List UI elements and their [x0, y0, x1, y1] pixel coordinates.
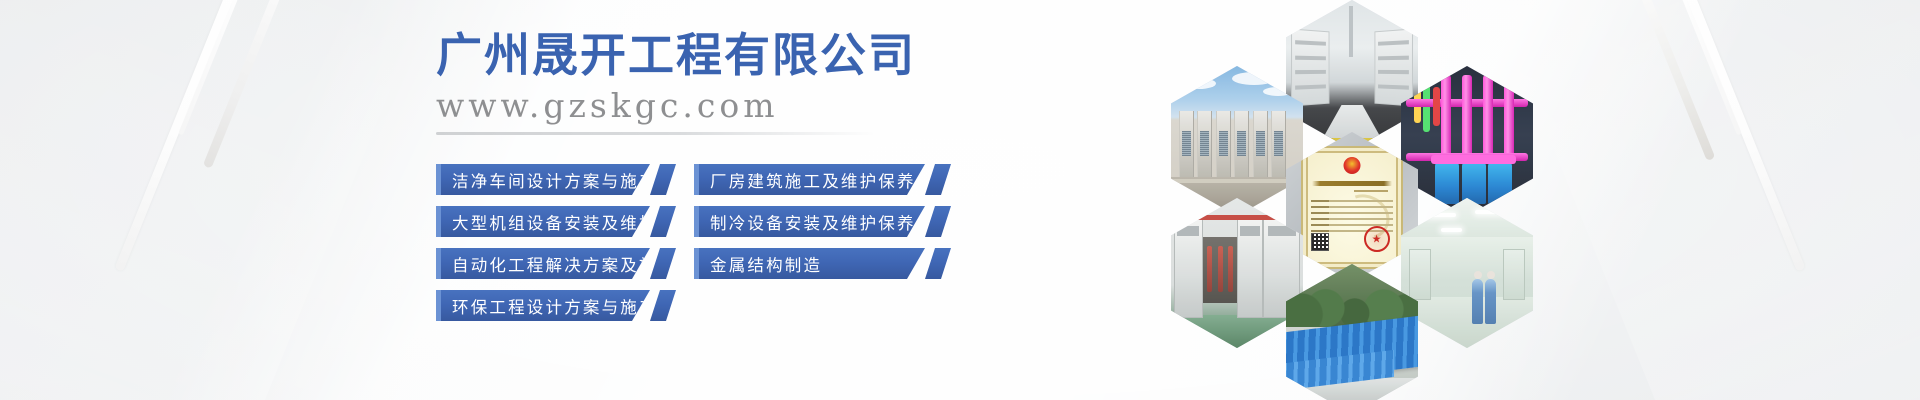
- service-tag[interactable]: 制冷设备安装及维护保养: [694, 206, 925, 237]
- service-tag-row[interactable]: 制冷设备安装及维护保养: [694, 206, 949, 237]
- national-emblem-icon: [1343, 157, 1360, 174]
- company-name: 广州晟开工程有限公司: [436, 28, 1116, 82]
- hex-photo-rooftop-ac: [1171, 66, 1303, 216]
- background-panel-left: [0, 0, 437, 400]
- service-tag-row[interactable]: 大型机组设备安装及维护保养: [436, 206, 674, 237]
- service-tag-row[interactable]: 环保工程设计方案与施工: [436, 290, 674, 321]
- service-tag[interactable]: 洁净车间设计方案与施工: [436, 164, 650, 195]
- chevron-arrow-icon: [650, 206, 676, 237]
- service-tag-row[interactable]: 洁净车间设计方案与施工: [436, 164, 674, 195]
- chevron-arrow-icon: [650, 290, 676, 321]
- hex-photo-certificate: [1286, 132, 1418, 282]
- service-tag[interactable]: 大型机组设备安装及维护保养: [436, 206, 650, 237]
- service-list-left: 洁净车间设计方案与施工 大型机组设备安装及维护保养 自动化工程解决方案及施工 环…: [436, 164, 674, 321]
- banner-text-block: 广州晟开工程有限公司 www.gzskgc.com: [436, 28, 1116, 135]
- decorative-stripe-left-1: [115, 0, 247, 272]
- service-tag[interactable]: 金属结构制造: [694, 248, 925, 279]
- switchgear-room-photo: [1286, 0, 1418, 150]
- chevron-arrow-icon: [925, 164, 951, 195]
- certificate-paper: [1301, 146, 1404, 269]
- official-seal-icon: [1364, 226, 1390, 252]
- service-tag[interactable]: 自动化工程解决方案及施工: [436, 248, 650, 279]
- decorative-stripe-left-3: [203, 0, 283, 169]
- decorative-stripe-left-2: [178, 0, 239, 135]
- qr-code-icon: [1311, 233, 1329, 251]
- chiller-pipes-photo: [1401, 66, 1533, 216]
- company-banner: 广州晟开工程有限公司 www.gzskgc.com 洁净车间设计方案与施工 大型…: [0, 0, 1920, 400]
- header-divider: [436, 132, 876, 135]
- switch-cabinets-photo: [1171, 198, 1303, 348]
- chevron-arrow-icon: [650, 248, 676, 279]
- service-tag[interactable]: 厂房建筑施工及维护保养: [694, 164, 925, 195]
- decorative-stripe-right-2: [1681, 0, 1742, 135]
- chevron-arrow-icon: [650, 164, 676, 195]
- service-tag-groups: 洁净车间设计方案与施工 大型机组设备安装及维护保养 自动化工程解决方案及施工 环…: [436, 164, 949, 321]
- chevron-arrow-icon: [925, 206, 951, 237]
- hex-photo-switch-cabinets: [1171, 198, 1303, 348]
- hex-photo-chiller-pipes: [1401, 66, 1533, 216]
- service-tag-row[interactable]: 厂房建筑施工及维护保养: [694, 164, 949, 195]
- service-tag-row[interactable]: 自动化工程解决方案及施工: [436, 248, 674, 279]
- chevron-arrow-icon: [925, 248, 951, 279]
- rooftop-ac-units-photo: [1171, 66, 1303, 216]
- service-tag-row[interactable]: 金属结构制造: [694, 248, 949, 279]
- decorative-stripe-right-3: [1640, 0, 1716, 161]
- hex-photo-cleanroom: [1401, 198, 1533, 348]
- hex-photo-factory-buildings: [1286, 264, 1418, 400]
- service-tag[interactable]: 环保工程设计方案与施工: [436, 290, 650, 321]
- hexagon-photo-collage: [1152, 0, 1552, 336]
- cleanroom-photo: [1401, 198, 1533, 348]
- qualification-certificate-photo: [1286, 132, 1418, 282]
- website-url: www.gzskgc.com: [436, 86, 1116, 126]
- hex-photo-switchgear-room: [1286, 0, 1418, 150]
- decorative-stripe-right-1: [1674, 0, 1806, 272]
- service-list-right: 厂房建筑施工及维护保养 制冷设备安装及维护保养 金属结构制造: [694, 164, 949, 321]
- factory-buildings-photo: [1286, 264, 1418, 400]
- certificate-title: [1312, 181, 1391, 186]
